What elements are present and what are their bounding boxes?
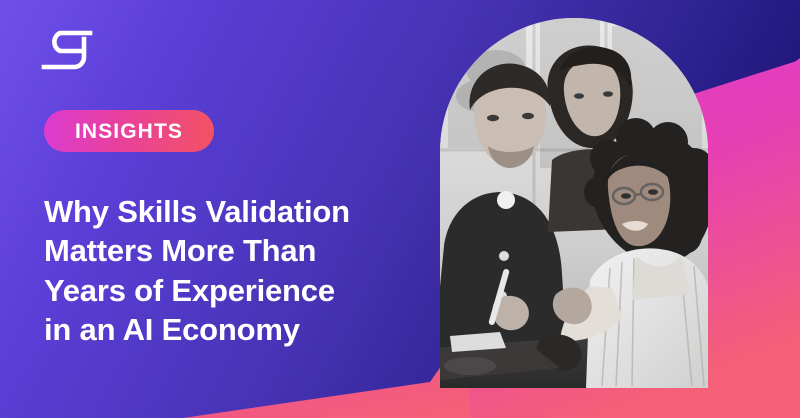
headline-line-3: Years of Experience (44, 271, 444, 310)
photo-content (440, 18, 708, 388)
insights-badge: INSIGHTS (44, 110, 214, 152)
headline-line-4: in an AI Economy (44, 310, 444, 349)
headline-title: Why Skills Validation Matters More Than … (44, 192, 444, 349)
insights-hero-banner: INSIGHTS Why Skills Validation Matters M… (0, 0, 800, 418)
headline-line-1: Why Skills Validation (44, 192, 444, 231)
brand-logo-icon[interactable] (40, 27, 94, 73)
team-collaboration-photo (440, 18, 708, 388)
insights-badge-label: INSIGHTS (75, 121, 183, 142)
headline-line-2: Matters More Than (44, 231, 444, 270)
